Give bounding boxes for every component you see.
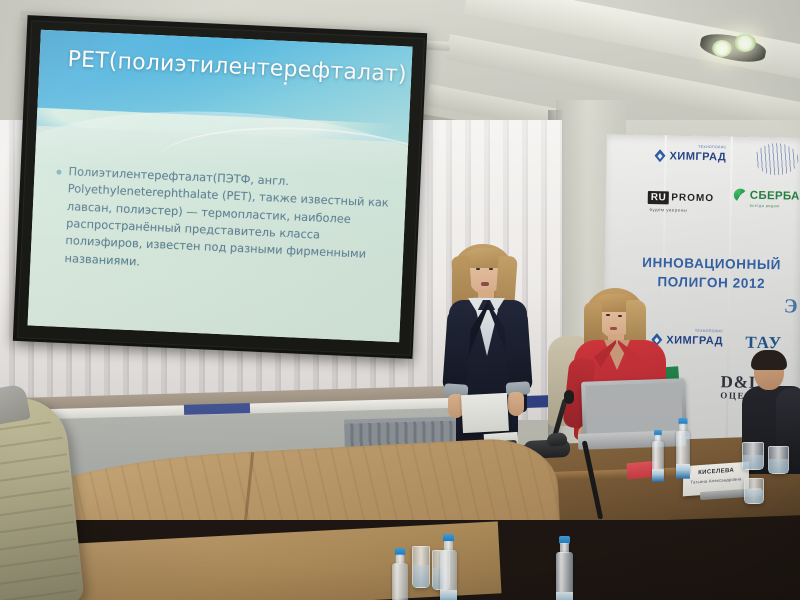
khimgrad-logo-tagline: ТЕХНОПОЛИС — [698, 144, 726, 148]
bullet-point-icon — [56, 170, 61, 175]
bottle-body — [440, 550, 457, 600]
water-glass — [744, 478, 764, 504]
rupromo-ru-text: RU — [648, 191, 670, 204]
presenter-eye — [489, 268, 493, 270]
khimgrad-logo: ХИМГРАД ТЕХНОПОЛИС — [654, 149, 726, 163]
sberbank-tagline: всегда рядом — [750, 203, 780, 209]
presenter-arm — [503, 307, 533, 392]
bottle-label — [440, 590, 457, 600]
ceiling-spotlight-icon — [712, 40, 732, 57]
bottle-body — [676, 431, 690, 474]
sberbank-mark-icon — [734, 189, 747, 202]
water-glass — [742, 442, 764, 470]
bottle-label — [556, 592, 573, 600]
sberbank-logo-text: СБЕРБАНК — [750, 189, 800, 202]
bottle-body — [652, 441, 664, 477]
man-hair — [751, 350, 787, 370]
bottle-body — [392, 563, 408, 600]
screen-surface: PET(полиэтилентерефталат) Полиэтилентере… — [28, 30, 413, 343]
bottle-label — [676, 464, 690, 479]
seated-woman-mouth — [610, 327, 617, 330]
rupromo-promo-text: PROMO — [671, 192, 714, 204]
blue-wall-accent — [184, 403, 250, 415]
banner-fold — [725, 136, 733, 466]
rupromo-logo: RU PROMO — [648, 191, 714, 205]
partner-letter-mark: Э — [784, 295, 798, 318]
khimgrad-logo-text: ХИМГРАД — [669, 150, 726, 163]
presenter-hand — [508, 392, 524, 416]
slide-bullet-text: Полиэтилентерефталат(ПЭТФ, англ. Polyeth… — [64, 163, 392, 282]
water-glass — [412, 546, 430, 588]
seated-woman-eye — [618, 315, 622, 317]
khimgrad-logo-tagline: ТЕХНОПОЛИС — [695, 328, 723, 332]
banner-headline-line1: ИННОВАЦИОННЫЙ — [626, 253, 796, 275]
seated-woman-eye — [606, 314, 610, 316]
conference-room-photo: PET(полиэтилентерефталат) Полиэтилентере… — [0, 0, 800, 600]
slide-bullet-row: Полиэтилентерефталат(ПЭТФ, англ. Polyeth… — [52, 163, 392, 282]
ceiling-spotlight-icon — [734, 34, 756, 52]
partner-emblem-icon — [754, 143, 799, 176]
projection-screen: PET(полиэтилентерефталат) Полиэтилентере… — [13, 15, 427, 359]
presenter-eye — [476, 268, 480, 270]
presenter-mouth — [481, 282, 489, 286]
presenter-notes-paper — [461, 393, 509, 433]
microphone-capsule — [564, 390, 574, 404]
water-glass — [768, 446, 789, 474]
laptop-bezel — [585, 382, 683, 435]
khimgrad-drop-icon — [654, 149, 665, 162]
slide-title-dot — [284, 82, 287, 85]
sberbank-logo: СБЕРБАНК — [734, 189, 800, 203]
presentation-slide: PET(полиэтилентерефталат) Полиэтилентере… — [28, 30, 413, 343]
rupromo-tagline: будем уверены — [650, 207, 688, 213]
bottle-body — [556, 552, 573, 600]
bottle-label — [652, 469, 664, 482]
nameplate-subtitle-text: Татьяна Александровна — [683, 476, 749, 486]
